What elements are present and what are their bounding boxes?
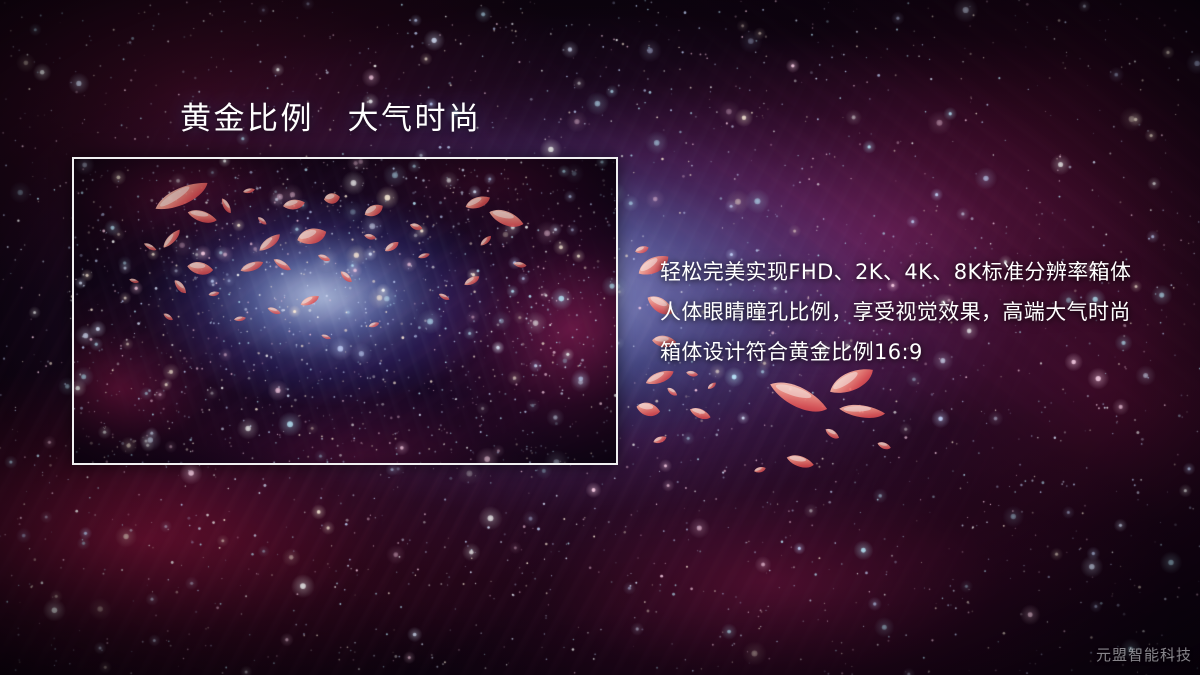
body-line-2: 人体眼睛瞳孔比例，享受视觉效果，高端大气时尚 — [660, 292, 1160, 332]
photo-vignette — [74, 159, 616, 463]
slide-title: 黄金比例 大气时尚 — [180, 100, 482, 139]
body-text-block: 轻松完美实现FHD、2K、4K、8K标准分辨率箱体 人体眼睛瞳孔比例，享受视觉效… — [660, 252, 1160, 372]
presentation-slide: 黄金比例 大气时尚 轻松完美实现FHD、2K、4K、8K标准分辨率箱体 人体眼睛… — [0, 0, 1200, 675]
photo-image — [74, 159, 616, 463]
body-line-3: 箱体设计符合黄金比例16:9 — [660, 332, 1160, 372]
photo-frame — [72, 157, 618, 465]
body-line-1: 轻松完美实现FHD、2K、4K、8K标准分辨率箱体 — [660, 252, 1160, 292]
watermark-label: 元盟智能科技 — [1096, 644, 1192, 665]
